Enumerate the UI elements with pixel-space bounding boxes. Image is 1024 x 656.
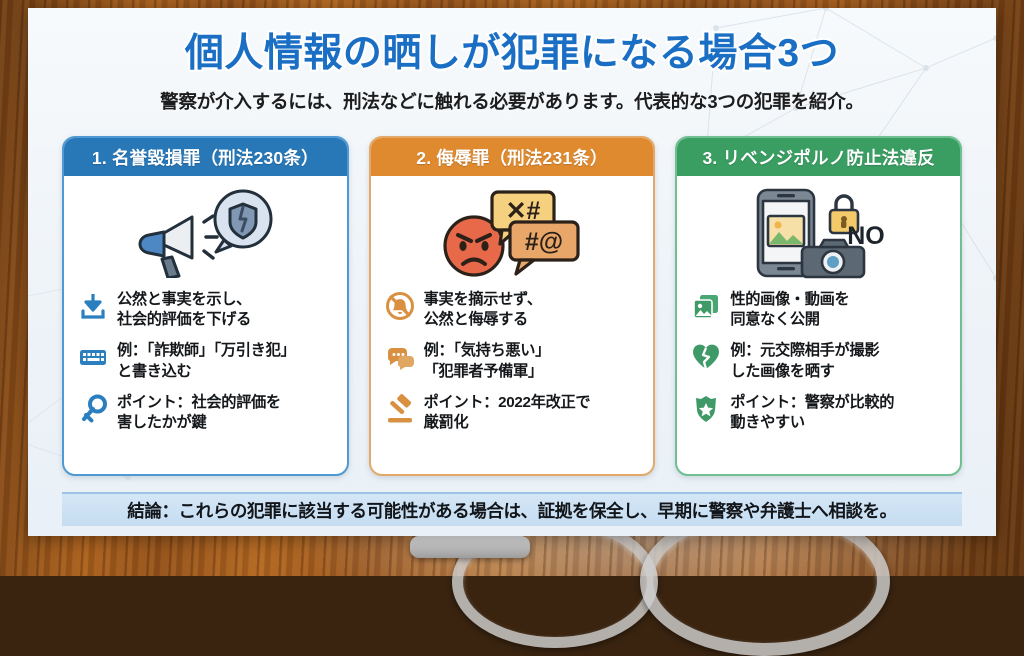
smartphone-lock-camera-icon: NO [677, 176, 960, 288]
content-panel: 個人情報の晒しが犯罪になる場合3つ 警察が介入するには、刑法などに触れる必要があ… [28, 8, 996, 536]
list-item-text: 例：「気持ち悪い」 「犯罪者予備軍」 [424, 341, 550, 381]
crime-cards-row: 1. 名誉毀損罪（刑法230条） [62, 136, 962, 476]
list-item-text: 性的画像・動画を 同意なく公開 [730, 290, 849, 330]
card-revenge-porn[interactable]: 3. リベンジポルノ防止法違反 [675, 136, 962, 476]
slide-background: 個人情報の晒しが犯罪になる場合3つ 警察が介入するには、刑法などに触れる必要があ… [0, 0, 1024, 576]
card-insult-heading: 2. 侮辱罪（刑法231条） [371, 138, 654, 176]
police-badge-icon [691, 394, 721, 424]
list-item: 例：「詐欺師」「万引き犯」 と書き込む [78, 341, 335, 381]
bubble-bottom-text: #@ [525, 228, 563, 256]
list-item: 公然と事実を示し、 社会的評価を下げる [78, 290, 335, 330]
list-item-text: ポイント：2022年改正で 厳罰化 [424, 393, 591, 433]
key-icon [78, 394, 108, 424]
keyboard-icon [78, 342, 108, 372]
chat-bubbles-icon [385, 342, 415, 372]
conclusion-text: 結論：これらの犯罪に該当する可能性がある場合は、証拠を保全し、早期に警察や弁護士… [127, 498, 897, 523]
download-icon [78, 291, 108, 321]
card-defamation[interactable]: 1. 名誉毀損罪（刑法230条） [62, 136, 349, 476]
card-insult-bullets: 事実を摘示せず、 公然と侮辱する 例：「気持ち悪い」 「犯罪者予備軍」 [371, 288, 654, 474]
no-label: NO [847, 222, 885, 250]
card-defamation-heading: 1. 名誉毀損罪（刑法230条） [64, 138, 347, 176]
card-insult[interactable]: 2. 侮辱罪（刑法231条） [369, 136, 656, 476]
list-item: 事実を摘示せず、 公然と侮辱する [385, 290, 642, 330]
page-subtitle: 警察が介入するには、刑法などに触れる必要があります。代表的な3つの犯罪を紹介。 [28, 88, 996, 114]
list-item-text: 事実を摘示せず、 公然と侮辱する [424, 290, 542, 330]
list-item: 性的画像・動画を 同意なく公開 [691, 290, 948, 330]
list-item: 例：元交際相手が撮影 した画像を晒す [691, 341, 948, 381]
list-item-text: 例：「詐欺師」「万引き犯」 と書き込む [117, 341, 295, 381]
angry-face-speech-bubbles-icon: ✕# #@ [371, 176, 654, 288]
list-item: ポイント：社会的評価を 害したかが鍵 [78, 393, 335, 433]
list-item-text: ポイント：社会的評価を 害したかが鍵 [117, 393, 281, 433]
card-defamation-bullets: 公然と事実を示し、 社会的評価を下げる [64, 288, 347, 474]
megaphone-shield-icon [64, 176, 347, 288]
bubble-top-text: ✕# [506, 197, 541, 225]
no-bell-icon [385, 291, 415, 321]
list-item-text: 例：元交際相手が撮影 した画像を晒す [730, 341, 879, 381]
list-item: ポイント：2022年改正で 厳罰化 [385, 393, 642, 433]
card-revenge-porn-bullets: 性的画像・動画を 同意なく公開 例：元交際相手が撮影 した画像を晒す [677, 288, 960, 474]
list-item-text: ポイント：警察が比較的 動きやすい [730, 393, 894, 433]
list-item: ポイント：警察が比較的 動きやすい [691, 393, 948, 433]
conclusion-bar: 結論：これらの犯罪に該当する可能性がある場合は、証拠を保全し、早期に警察や弁護士… [62, 492, 962, 526]
gavel-icon [385, 394, 415, 424]
list-item-text: 公然と事実を示し、 社会的評価を下げる [117, 290, 251, 330]
card-revenge-porn-heading: 3. リベンジポルノ防止法違反 [677, 138, 960, 176]
handcuff-bar [410, 536, 530, 558]
photos-icon [691, 291, 721, 321]
page-title: 個人情報の晒しが犯罪になる場合3つ [28, 22, 996, 78]
list-item: 例：「気持ち悪い」 「犯罪者予備軍」 [385, 341, 642, 381]
broken-heart-icon [691, 342, 721, 372]
